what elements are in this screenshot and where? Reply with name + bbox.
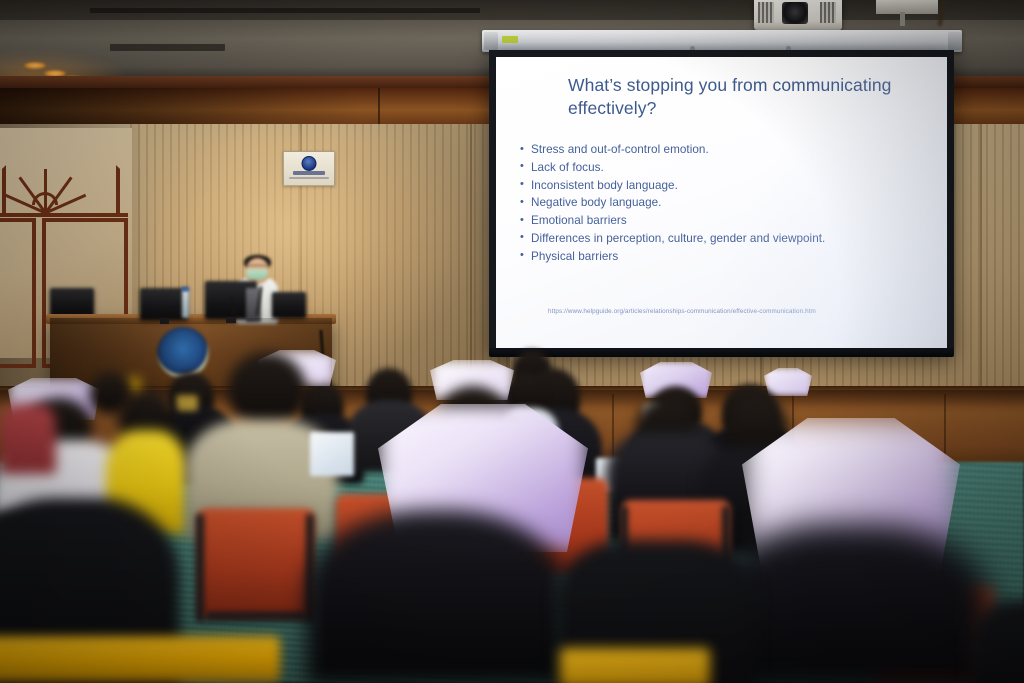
desk-monitor-icon <box>272 292 306 318</box>
foreground-yellow-object <box>560 648 710 683</box>
wall-sign <box>283 151 335 186</box>
wood-band-seam <box>378 88 380 128</box>
projector-vent-icon <box>758 2 774 23</box>
slide-bullet-item: Negative body language. <box>520 194 940 212</box>
attendee-head <box>90 372 130 414</box>
foreground-yellow-object <box>0 636 280 682</box>
chair-frame <box>206 612 306 620</box>
bottle-cap-icon <box>182 287 189 291</box>
projection-screen-surface[interactable]: What’s stopping you from communicating e… <box>496 57 947 348</box>
sign-title-text <box>293 171 325 175</box>
slide-bullet-item: Differences in perception, culture, gend… <box>520 230 940 248</box>
wall-molding-panel <box>0 218 36 368</box>
ceiling-panel-seam <box>90 8 480 13</box>
slide-bullet-item: Emotional barriers <box>520 212 940 230</box>
screen-bottom-weight-bar <box>489 348 954 357</box>
projector-vent-icon <box>820 2 836 23</box>
attendee-head <box>228 352 306 426</box>
projector-mount <box>876 0 938 14</box>
slide-title: What’s stopping you from communicating e… <box>568 74 898 120</box>
auditorium-chair[interactable] <box>198 508 314 618</box>
desk-monitor-icon <box>140 288 188 320</box>
housing-endcap <box>948 32 962 50</box>
slide-bullet-item: Inconsistent body language. <box>520 177 940 195</box>
ceiling-downlight-icon <box>24 62 46 69</box>
institution-emblem-icon <box>302 156 317 171</box>
housing-endcap <box>484 32 498 50</box>
handout-paper <box>310 432 354 476</box>
face-mask-icon <box>246 269 268 280</box>
photo-scene: What’s stopping you from communicating e… <box>0 0 1024 683</box>
water-bottle-icon <box>182 290 189 318</box>
attendee-foreground-head <box>306 510 566 683</box>
ceiling-wood-shadow <box>0 88 360 128</box>
fanlight-spoke <box>44 169 47 213</box>
attendee-badge <box>176 395 198 411</box>
slide-source-url: https://www.helpguide.org/articles/relat… <box>548 308 947 315</box>
slide-bullet-list: Stress and out-of-control emotion. Lack … <box>520 141 940 265</box>
slide-bullet-item: Lack of focus. <box>520 159 940 177</box>
slide-bullet-item: Stress and out-of-control emotion. <box>520 141 940 159</box>
nurse-cap-icon <box>764 368 812 396</box>
attendee-red-top <box>0 404 56 474</box>
hair-clip-icon <box>128 378 140 390</box>
slide-bullet-item: Physical barriers <box>520 248 940 266</box>
projector-mount-rod <box>900 12 905 26</box>
chair-frame <box>196 514 204 622</box>
screen-roller-housing[interactable] <box>482 30 962 52</box>
wall-panel-seam <box>980 124 982 400</box>
projector-lens-icon <box>782 2 808 24</box>
housing-brand-label <box>502 36 518 43</box>
sign-subtitle-text <box>289 177 329 179</box>
fanlight-base-rail <box>0 213 128 217</box>
